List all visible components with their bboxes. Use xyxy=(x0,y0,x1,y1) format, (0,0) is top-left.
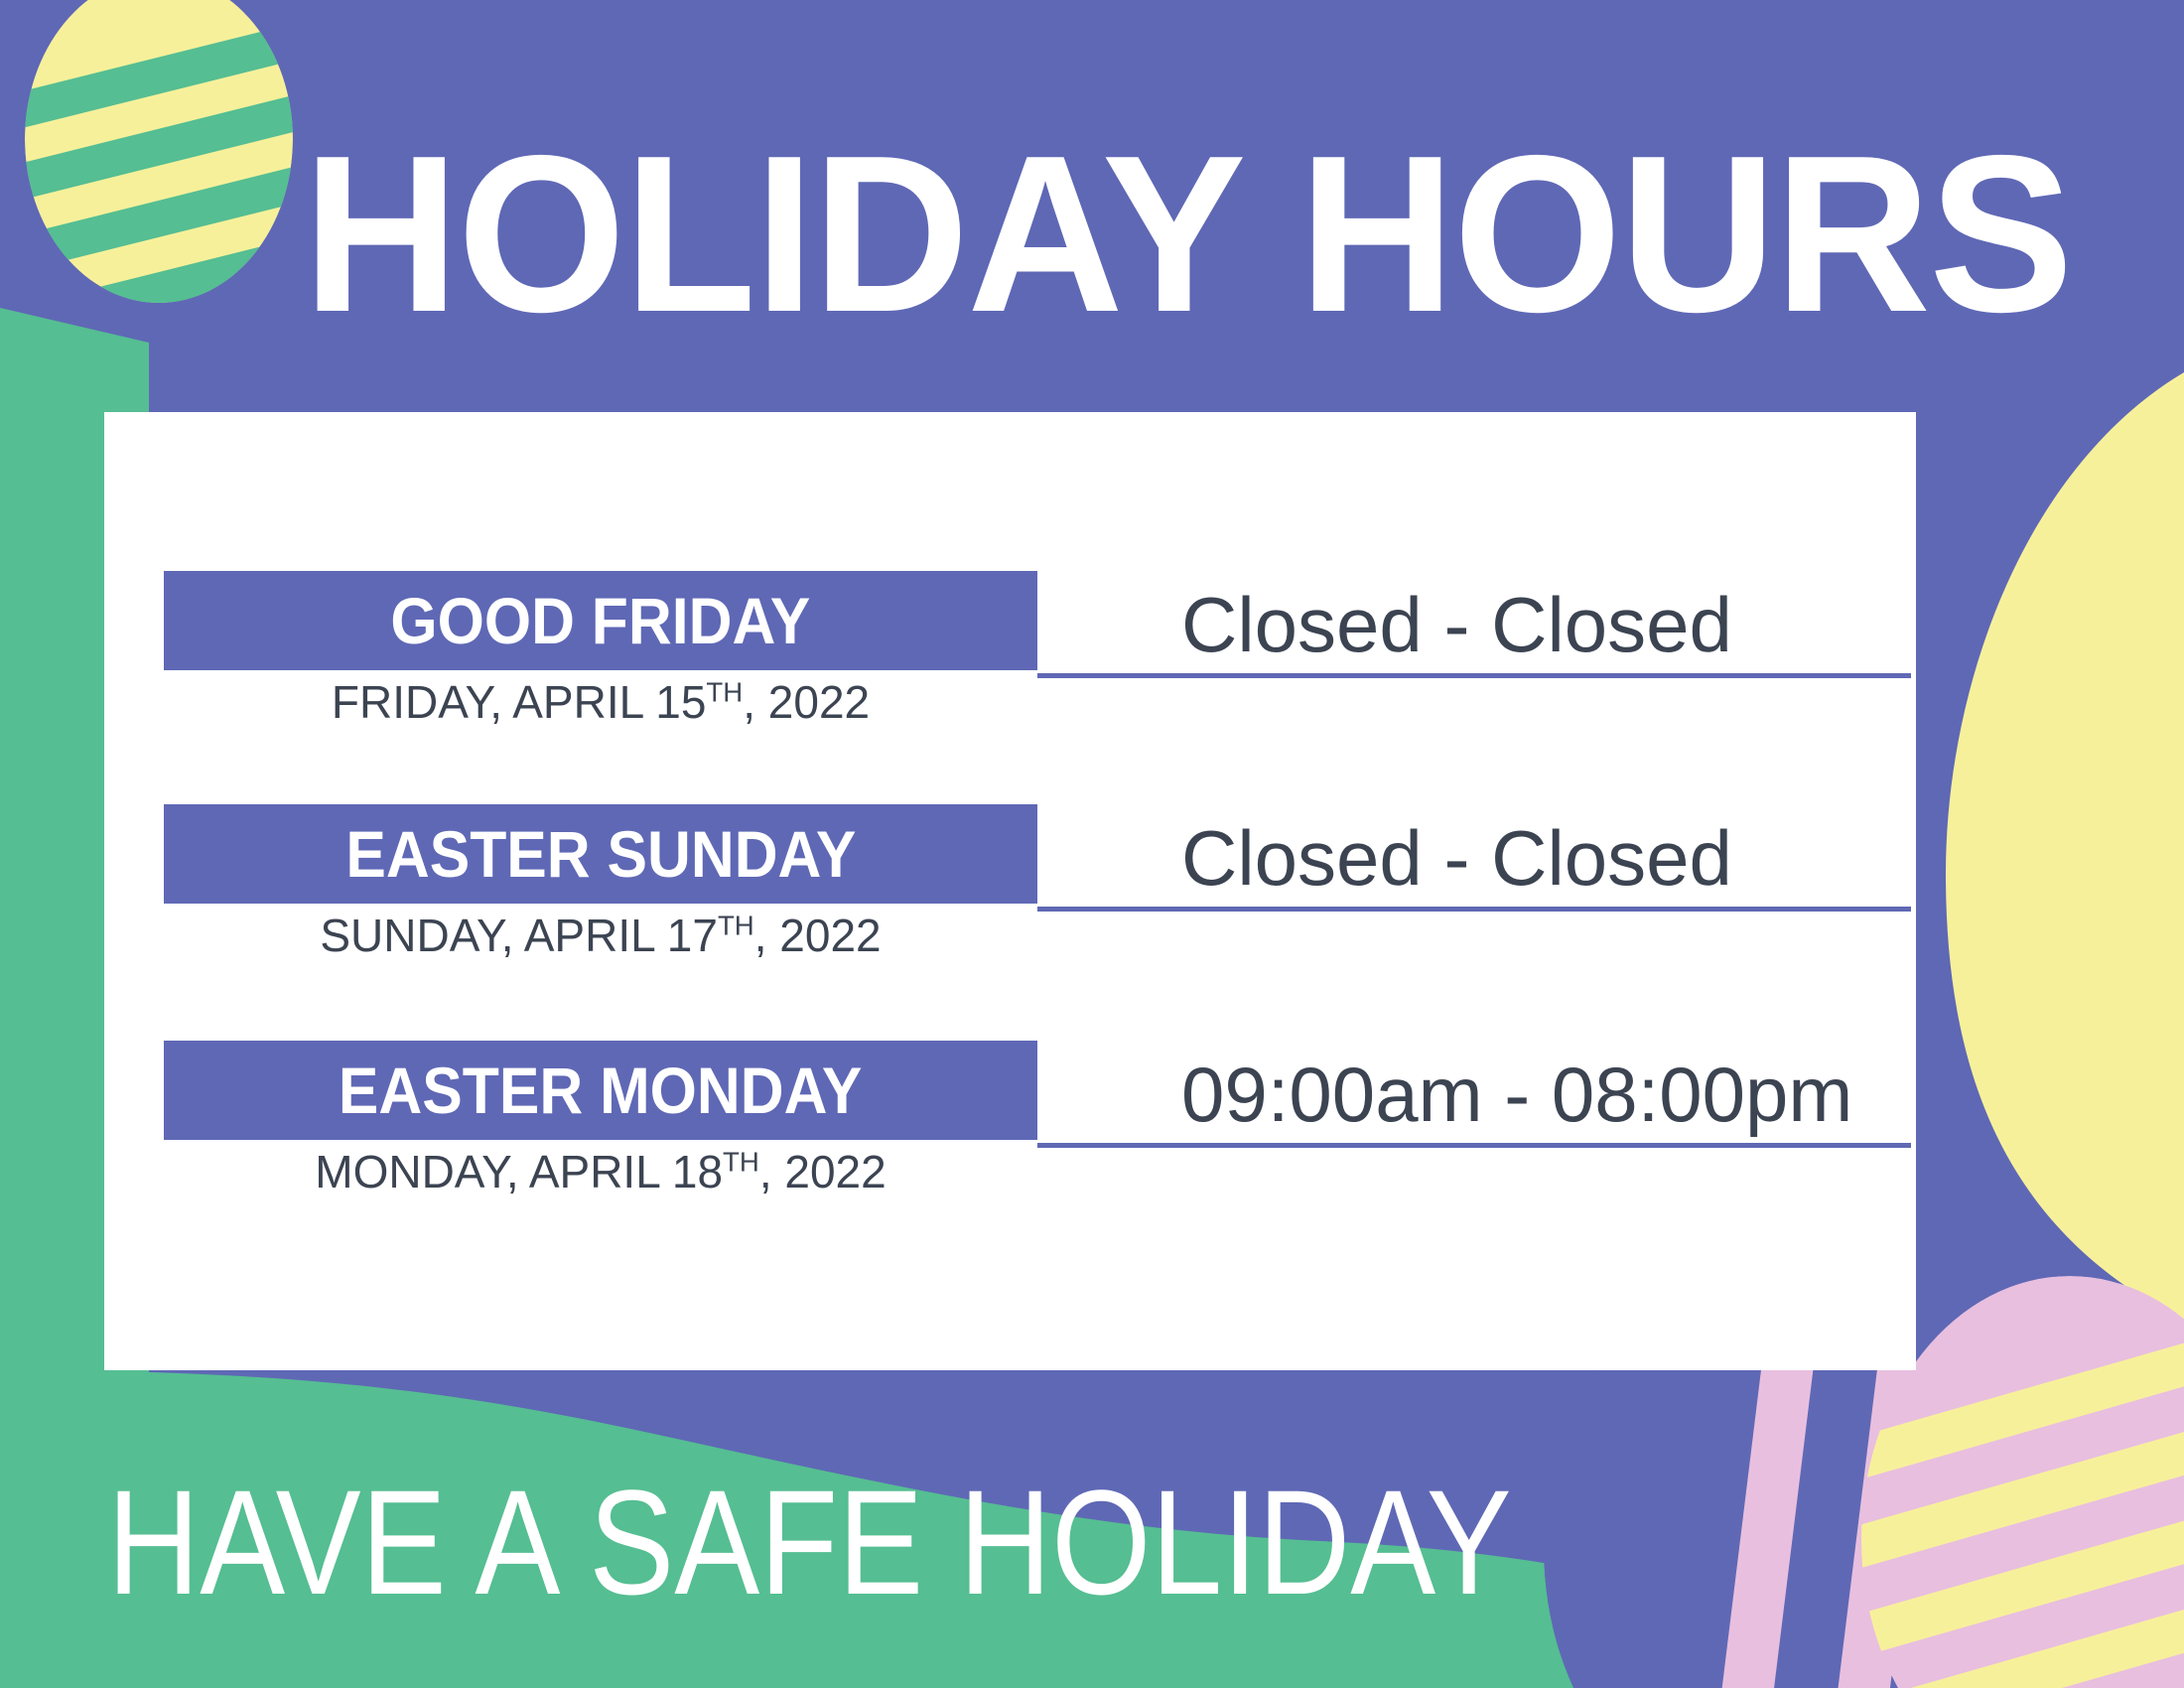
holiday-hours-field: Closed - Closed xyxy=(1037,571,1911,678)
table-row: EASTER MONDAY MONDAY, APRIL 18TH, 2022 0… xyxy=(164,1041,1911,1219)
footer-message: HAVE A SAFE HOLIDAY xyxy=(107,1468,1388,1617)
holiday-date-label: SUNDAY, APRIL 17TH, 2022 xyxy=(164,908,1037,963)
holiday-name-label: EASTER MONDAY xyxy=(339,1057,862,1123)
holiday-hours-field: Closed - Closed xyxy=(1037,804,1911,912)
holiday-hours-field: 09:00am - 08:00pm xyxy=(1037,1041,1911,1148)
holiday-name-label: EASTER SUNDAY xyxy=(345,821,856,887)
holiday-name-label: GOOD FRIDAY xyxy=(391,588,811,653)
holiday-date-ordinal: TH xyxy=(718,911,754,941)
holiday-hours-value: 09:00am - 08:00pm xyxy=(1037,1052,1852,1143)
table-row: GOOD FRIDAY FRIDAY, APRIL 15TH, 2022 Clo… xyxy=(164,571,1911,750)
holiday-date-label: FRIDAY, APRIL 15TH, 2022 xyxy=(164,674,1037,730)
holiday-hours-value: Closed - Closed xyxy=(1037,582,1732,673)
table-row: EASTER SUNDAY SUNDAY, APRIL 17TH, 2022 C… xyxy=(164,804,1911,983)
holiday-date-prefix: SUNDAY, APRIL 17 xyxy=(320,910,718,961)
page-title: HOLIDAY HOURS xyxy=(303,119,1901,348)
holiday-date-suffix: , 2022 xyxy=(759,1146,887,1197)
holiday-name-bar: GOOD FRIDAY xyxy=(164,571,1037,670)
holiday-date-ordinal: TH xyxy=(723,1147,759,1178)
holiday-name-bar: EASTER SUNDAY xyxy=(164,804,1037,904)
holiday-hours-poster: HOLIDAY HOURS GOOD FRIDAY FRIDAY, APRIL … xyxy=(0,0,2184,1688)
holiday-hours-value: Closed - Closed xyxy=(1037,815,1732,907)
holiday-name-bar: EASTER MONDAY xyxy=(164,1041,1037,1140)
holiday-date-suffix: , 2022 xyxy=(754,910,882,961)
holiday-date-label: MONDAY, APRIL 18TH, 2022 xyxy=(164,1144,1037,1199)
holiday-date-ordinal: TH xyxy=(706,677,743,708)
holiday-date-suffix: , 2022 xyxy=(743,676,870,728)
hours-card: GOOD FRIDAY FRIDAY, APRIL 15TH, 2022 Clo… xyxy=(104,412,1916,1370)
holiday-date-prefix: FRIDAY, APRIL 15 xyxy=(332,676,707,728)
holiday-date-prefix: MONDAY, APRIL 18 xyxy=(315,1146,723,1197)
yellow-blob-shape xyxy=(1946,372,2184,1321)
